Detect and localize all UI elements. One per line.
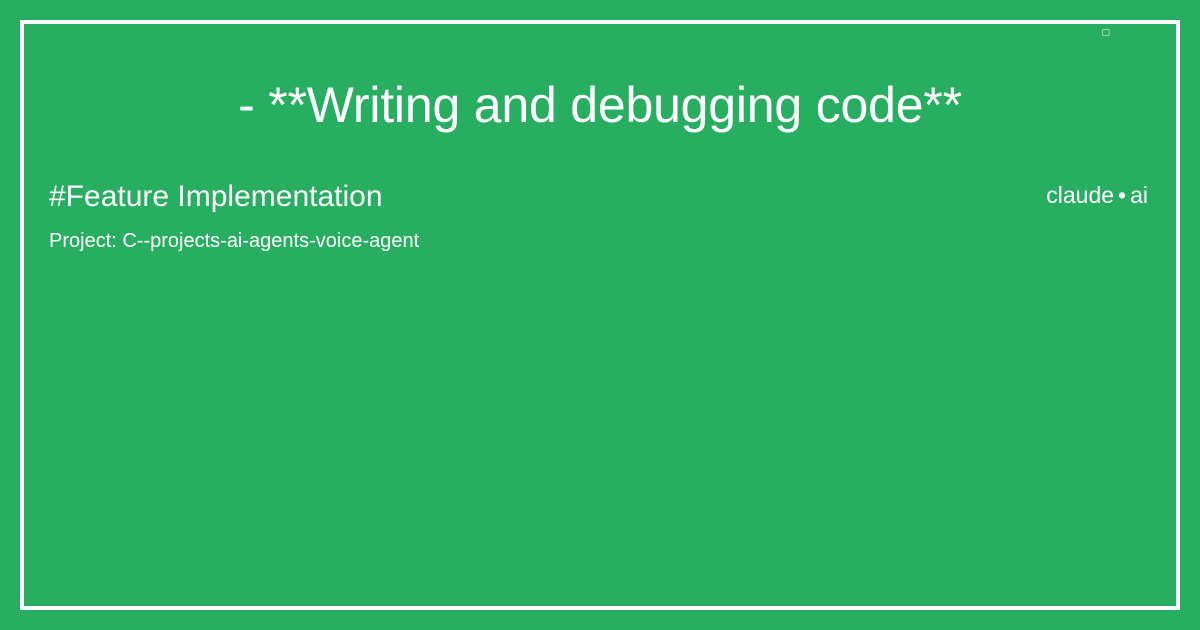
brand-mark: claude•ai (1046, 180, 1148, 210)
brand-separator-icon: • (1114, 182, 1130, 208)
social-card: ▢ - **Writing and debugging code** #Feat… (0, 0, 1200, 630)
section-heading: #Feature Implementation (49, 178, 800, 216)
project-path-line: Project: C--projects-ai-agents-voice-age… (49, 228, 800, 254)
unrendered-emoji-glyph-icon: ▢ (1101, 29, 1110, 38)
card-body-empty-area (49, 285, 1151, 590)
brand-suffix: ai (1130, 182, 1148, 208)
brand-name: claude (1046, 182, 1114, 208)
card-title: - **Writing and debugging code** (50, 72, 1150, 138)
meta-block: #Feature Implementation Project: C--proj… (49, 178, 800, 254)
